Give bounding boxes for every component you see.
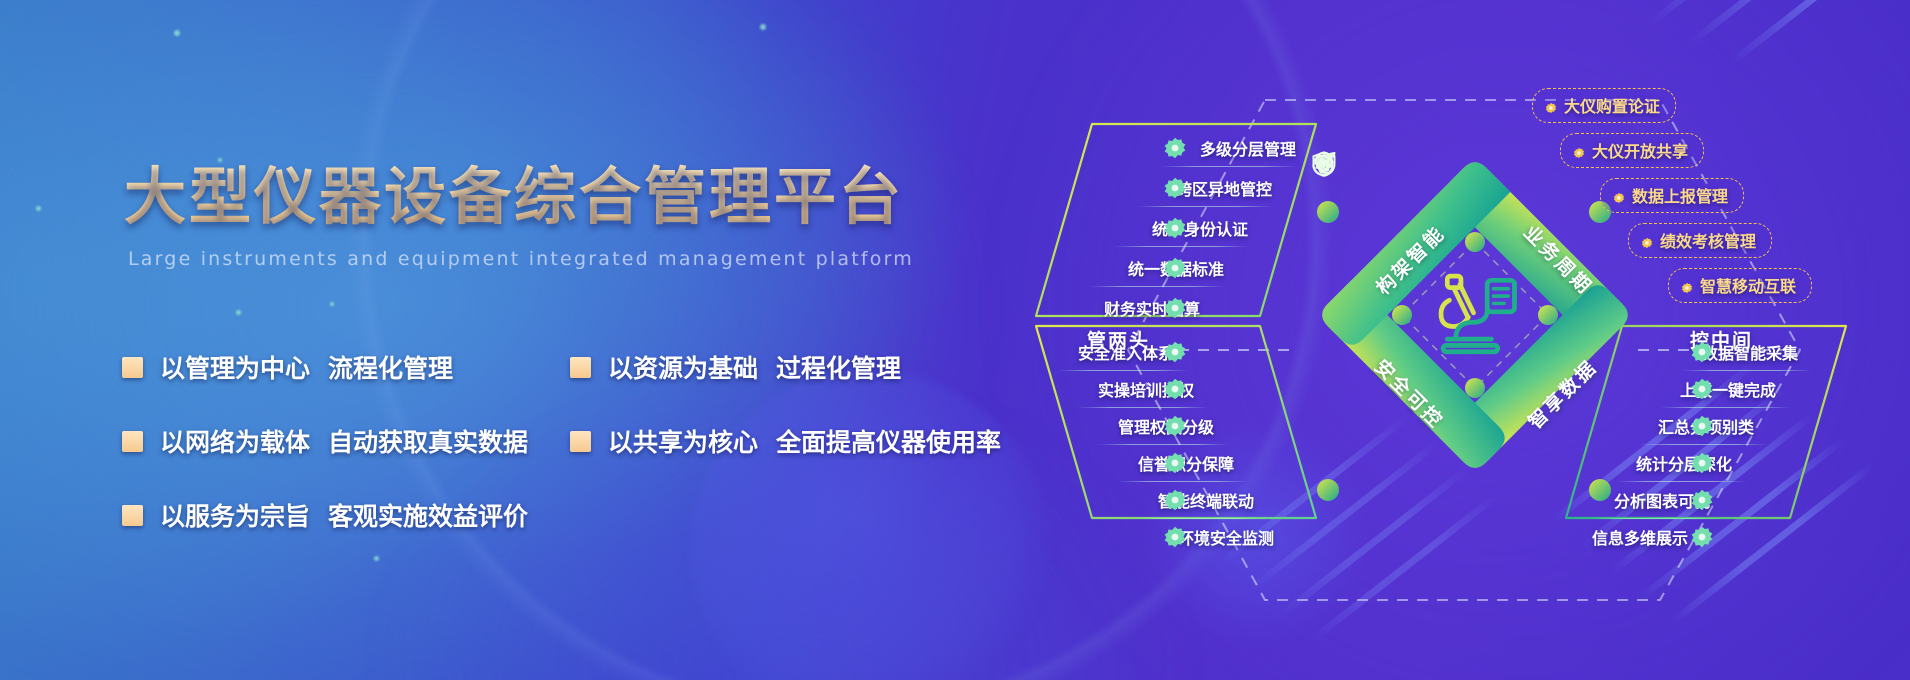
feature-label: 以服务为宗旨客观实施效益评价 — [160, 497, 528, 533]
list-item: 信誉积分保障 — [1030, 451, 1320, 475]
star-icon — [1180, 142, 1193, 155]
feature-row: 以网络为载体自动获取真实数据 以共享为核心全面提高仪器使用率 — [122, 404, 1052, 478]
bullet-square-icon — [570, 431, 591, 452]
star-icon — [1660, 383, 1673, 396]
star-icon — [1078, 383, 1091, 396]
list-item: 财务实时结算 — [1030, 296, 1320, 320]
list-item: 智能终端联动 — [1030, 488, 1320, 512]
feature-item: 以网络为载体自动获取真实数据 — [122, 423, 570, 459]
star-icon — [1641, 234, 1653, 246]
star-icon — [1098, 420, 1111, 433]
star-icon — [1138, 494, 1151, 507]
banner-stage: 大型仪器设备综合管理平台 Large instruments and equip… — [0, 0, 1910, 680]
feature-item: 以服务为宗旨客观实施效益评价 — [122, 497, 570, 533]
core-diamond: 构架智能 业务周期 安全可控 智享数据 — [1310, 150, 1640, 480]
list-item: 实操培训授权 — [1030, 377, 1320, 401]
star-icon — [1572, 531, 1585, 544]
feature-label: 以资源为基础过程化管理 — [608, 349, 901, 385]
list-item: 多级分层管理 — [1030, 136, 1320, 160]
badge-item[interactable]: 智慧移动互联 — [1668, 268, 1812, 303]
feature-label: 以管理为中心流程化管理 — [160, 349, 453, 385]
star-icon — [1118, 457, 1131, 470]
panel-item-list: 多级分层管理 跨区异地管控 统一身份认证 统一数据标准 财务实时结算 — [1030, 120, 1320, 320]
sparkle-dot — [36, 206, 41, 211]
badge-item[interactable]: 大仪购置论证 — [1532, 88, 1676, 123]
star-icon — [1108, 262, 1121, 275]
bullet-square-icon — [122, 505, 143, 526]
list-item: 安全准入体系 — [1030, 340, 1320, 364]
star-icon — [1058, 346, 1071, 359]
star-icon — [1156, 182, 1169, 195]
list-item: 分析图表可视 — [1552, 488, 1852, 512]
feature-item: 以共享为核心全面提高仪器使用率 — [570, 423, 1001, 459]
feature-list: 以管理为中心流程化管理 以资源为基础过程化管理 以网络为载体自动获取真实数据 以… — [122, 330, 1052, 552]
feature-label: 以网络为载体自动获取真实数据 — [160, 423, 528, 459]
sparkle-dot — [174, 30, 180, 36]
star-icon — [1158, 531, 1171, 544]
panel-bottom-left: 安全准入体系 实操培训授权 管理权限分级 信誉积分保障 智能终端联动 环境安全监… — [1030, 322, 1320, 522]
badge-row: 大仪购置论证 — [1518, 88, 1898, 133]
list-item: 管理权限分级 — [1030, 414, 1320, 438]
star-icon — [1545, 99, 1557, 111]
star-icon — [1132, 222, 1145, 235]
star-icon — [1682, 346, 1695, 359]
list-item: 环境安全监测 — [1030, 525, 1320, 549]
architecture-diagram: 管两头 控中间 多级分层管理 跨区异地管控 统一身份认证 统一数据标准 财务实时… — [1040, 50, 1910, 650]
badge-item[interactable]: 绩效考核管理 — [1628, 223, 1772, 258]
bullet-square-icon — [122, 431, 143, 452]
bullet-square-icon — [570, 357, 591, 378]
feature-row: 以管理为中心流程化管理 以资源为基础过程化管理 — [122, 330, 1052, 404]
page-subtitle: Large instruments and equipment integrat… — [128, 248, 914, 270]
feature-item: 以资源为基础过程化管理 — [570, 349, 901, 385]
star-icon — [1681, 279, 1693, 291]
page-title: 大型仪器设备综合管理平台 — [124, 146, 904, 236]
feature-row: 以服务为宗旨客观实施效益评价 — [122, 478, 1052, 552]
sparkle-dot — [374, 556, 379, 561]
lightbulb-icon — [1310, 150, 1338, 178]
list-item: 统一身份认证 — [1030, 216, 1320, 240]
panel-top-left: 多级分层管理 跨区异地管控 统一身份认证 统一数据标准 财务实时结算 — [1030, 120, 1320, 320]
list-item: 信息多维展示 — [1552, 525, 1852, 549]
star-icon — [1594, 494, 1607, 507]
sparkle-dot — [330, 302, 334, 306]
list-item: 统一数据标准 — [1030, 256, 1320, 280]
panel-item-list: 安全准入体系 实操培训授权 管理权限分级 信誉积分保障 智能终端联动 环境安全监… — [1030, 322, 1320, 549]
list-item: 跨区异地管控 — [1030, 176, 1320, 200]
feature-label: 以共享为核心全面提高仪器使用率 — [608, 423, 1001, 459]
bullet-square-icon — [122, 357, 143, 378]
sparkle-dot — [760, 24, 766, 30]
feature-item: 以管理为中心流程化管理 — [122, 349, 570, 385]
star-icon — [1084, 302, 1097, 315]
sparkle-dot — [236, 310, 241, 315]
microscope-icon — [1441, 276, 1515, 352]
